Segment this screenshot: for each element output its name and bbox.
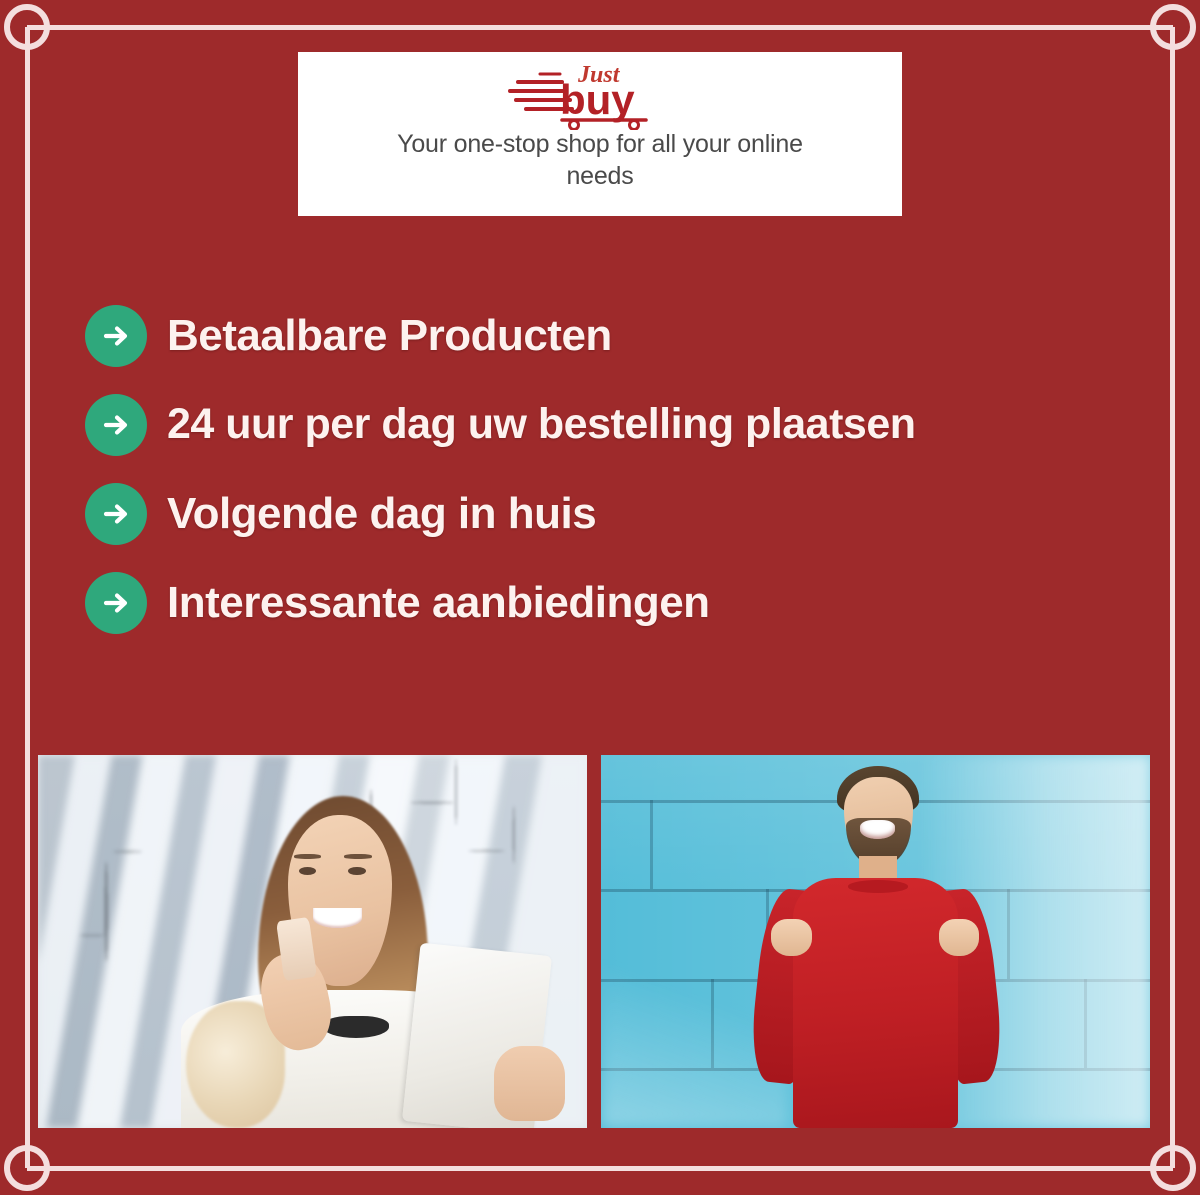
feature-label: Volgende dag in huis — [167, 491, 596, 537]
brand-tagline: Your one-stop shop for all your online n… — [365, 128, 835, 192]
feature-item: Volgende dag in huis — [85, 483, 1145, 545]
arrow-right-icon — [85, 572, 147, 634]
shopping-cart-speedlines-icon: Just buy — [500, 58, 700, 130]
arrow-right-icon — [85, 305, 147, 367]
corner-ring-bottom-left-icon — [4, 1145, 50, 1191]
frame-line-bottom — [27, 1166, 1173, 1171]
feature-item: Interessante aanbiedingen — [85, 572, 1145, 634]
frame-line-top — [27, 25, 1173, 30]
feature-item: Betaalbare Producten — [85, 305, 1145, 367]
photo-strip — [38, 755, 1150, 1128]
feature-item: 24 uur per dag uw bestelling plaatsen — [85, 394, 1145, 456]
feature-label: Betaalbare Producten — [167, 313, 612, 359]
feature-list: Betaalbare Producten 24 uur per dag uw b… — [85, 305, 1145, 661]
corner-ring-bottom-right-icon — [1150, 1145, 1196, 1191]
frame-line-right — [1170, 27, 1175, 1168]
frame-line-left — [25, 27, 30, 1168]
feature-label: Interessante aanbiedingen — [167, 580, 710, 626]
photo-celebrating-man — [601, 755, 1150, 1128]
brand-logo: Just buy — [500, 58, 700, 130]
photo-woman-on-phone — [38, 755, 587, 1128]
svg-text:buy: buy — [560, 76, 635, 123]
corner-ring-top-left-icon — [4, 4, 50, 50]
promo-poster: Just buy Your one-stop shop for all your… — [0, 0, 1200, 1195]
brand-header-card: Just buy Your one-stop shop for all your… — [298, 52, 902, 216]
corner-ring-top-right-icon — [1150, 4, 1196, 50]
arrow-right-icon — [85, 483, 147, 545]
feature-label: 24 uur per dag uw bestelling plaatsen — [167, 402, 916, 447]
arrow-right-icon — [85, 394, 147, 456]
